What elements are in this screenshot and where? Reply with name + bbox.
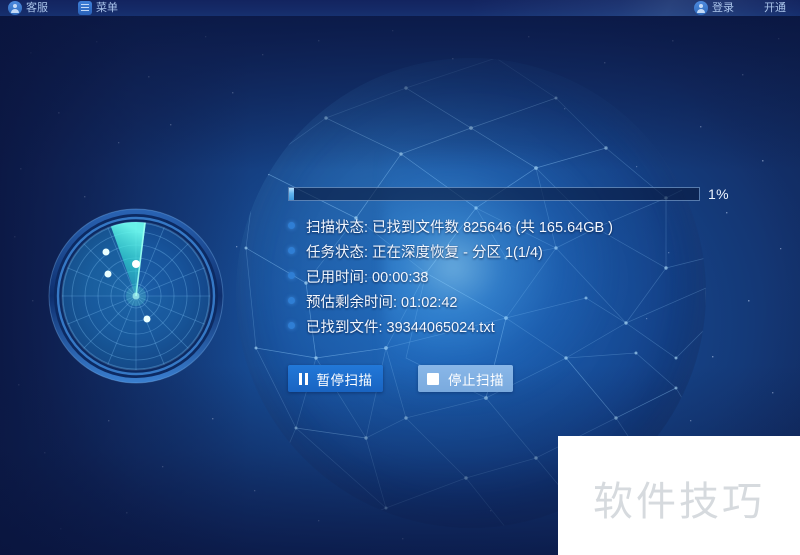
upgrade-label: 开通 bbox=[764, 3, 786, 14]
menu-button[interactable]: 菜单 bbox=[78, 1, 118, 15]
bullet-icon bbox=[288, 272, 295, 279]
progress-bar bbox=[288, 187, 700, 201]
status-item-scan-status: 扫描状态: 已找到文件数 825646 (共 165.64GB ) bbox=[288, 218, 732, 243]
menu-label: 菜单 bbox=[96, 3, 118, 14]
scan-progress-panel: 1% 扫描状态: 已找到文件数 825646 (共 165.64GB ) 任务状… bbox=[288, 186, 732, 392]
remaining-time-text: 预估剩余时间: 01:02:42 bbox=[306, 293, 458, 313]
progress-percent-label: 1% bbox=[708, 187, 729, 201]
watermark-overlay: 软件技巧 bbox=[558, 436, 800, 555]
app-window: 客服 菜单 登录 开通 bbox=[0, 0, 800, 555]
radar-scanner bbox=[48, 208, 224, 384]
progress-bar-fill bbox=[289, 188, 294, 200]
support-button[interactable]: 客服 bbox=[8, 1, 48, 15]
status-item-remaining-time: 预估剩余时间: 01:02:42 bbox=[288, 293, 732, 318]
upgrade-button[interactable]: 开通 bbox=[764, 3, 786, 14]
status-item-task-status: 任务状态: 正在深度恢复 - 分区 1(1/4) bbox=[288, 243, 732, 268]
user-avatar-icon bbox=[694, 1, 708, 15]
stop-scan-label: 停止扫描 bbox=[448, 369, 504, 389]
bullet-icon bbox=[288, 297, 295, 304]
task-status-text: 任务状态: 正在深度恢复 - 分区 1(1/4) bbox=[306, 243, 543, 263]
elapsed-time-text: 已用时间: 00:00:38 bbox=[306, 268, 429, 288]
pause-scan-button[interactable]: 暂停扫描 bbox=[288, 365, 383, 392]
action-button-row: 暂停扫描 停止扫描 bbox=[288, 365, 732, 392]
pause-scan-label: 暂停扫描 bbox=[317, 369, 373, 389]
status-item-found-file: 已找到文件: 39344065024.txt bbox=[288, 318, 732, 343]
pause-icon bbox=[299, 373, 308, 385]
login-button[interactable]: 登录 bbox=[694, 1, 734, 15]
title-bar: 客服 菜单 登录 开通 bbox=[0, 0, 800, 16]
bullet-icon bbox=[288, 247, 295, 254]
watermark-text: 软件技巧 bbox=[593, 482, 765, 522]
progress-row: 1% bbox=[288, 186, 732, 202]
headset-icon bbox=[8, 1, 22, 15]
status-item-elapsed-time: 已用时间: 00:00:38 bbox=[288, 268, 732, 293]
login-label: 登录 bbox=[712, 3, 734, 14]
titlebar-right-group: 登录 开通 bbox=[694, 1, 786, 15]
stop-square-icon bbox=[427, 373, 439, 385]
bullet-icon bbox=[288, 222, 295, 229]
status-list: 扫描状态: 已找到文件数 825646 (共 165.64GB ) 任务状态: … bbox=[288, 218, 732, 343]
grid-menu-icon bbox=[78, 1, 92, 15]
bullet-icon bbox=[288, 322, 295, 329]
found-file-text: 已找到文件: 39344065024.txt bbox=[306, 318, 495, 338]
scan-status-text: 扫描状态: 已找到文件数 825646 (共 165.64GB ) bbox=[306, 218, 613, 238]
support-label: 客服 bbox=[26, 3, 48, 14]
stop-scan-button[interactable]: 停止扫描 bbox=[418, 365, 513, 392]
